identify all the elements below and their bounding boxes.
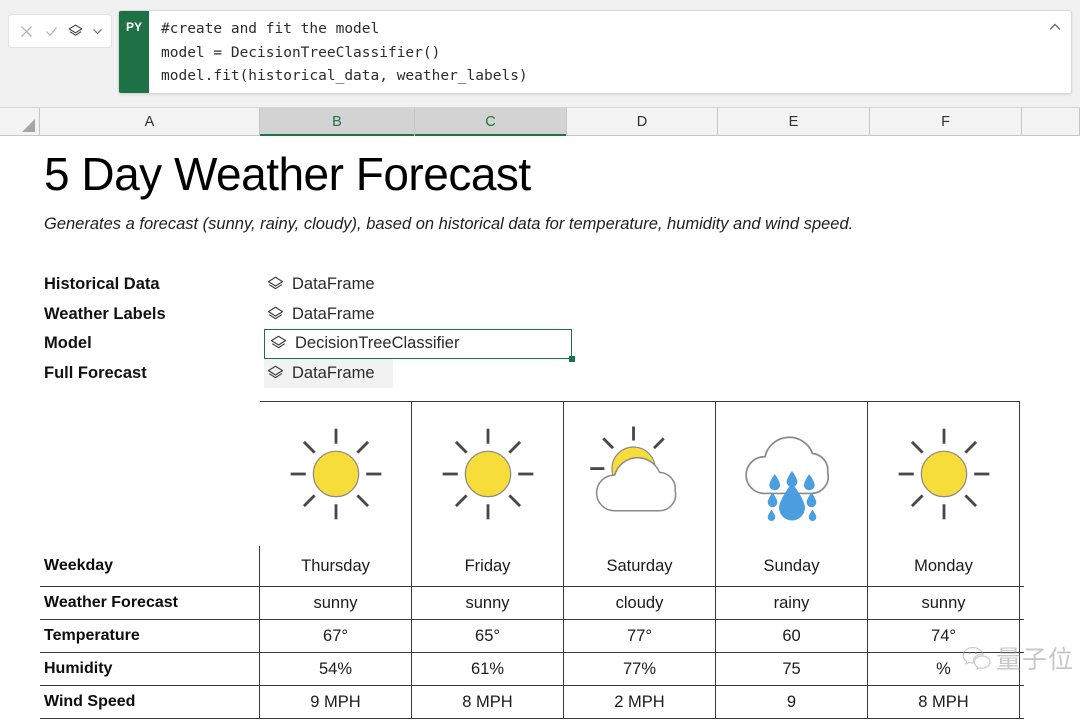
layers-icon[interactable]	[66, 21, 86, 41]
parameter-value: DataFrame	[292, 305, 375, 324]
parameter-label: Historical Data	[44, 275, 264, 294]
forecast-table: Weekday Thursday Friday Saturday Sunday …	[40, 401, 1024, 719]
page-subtitle: Generates a forecast (sunny, rainy, clou…	[44, 215, 853, 234]
formula-bar-controls	[8, 14, 112, 48]
column-label: C	[485, 114, 495, 130]
chevron-down-icon[interactable]	[91, 21, 104, 41]
column-label: F	[941, 114, 950, 130]
table-cell: cloudy	[564, 587, 716, 619]
table-cell: 67°	[260, 620, 412, 652]
parameter-value: DecisionTreeClassifier	[295, 334, 459, 353]
python-badge: PY	[119, 11, 149, 93]
sunny-icon	[890, 420, 998, 528]
table-cell: 8 MPH	[412, 686, 564, 718]
table-cell: sunny	[260, 587, 412, 619]
table-cell: 54%	[260, 653, 412, 685]
table-cell: 8 MPH	[868, 686, 1020, 718]
table-row-temperature: Temperature 67° 65° 77° 60 74°	[40, 620, 1024, 653]
layers-icon	[269, 334, 288, 353]
layers-icon	[266, 305, 285, 324]
weather-icon-cell-thursday	[260, 401, 412, 546]
table-cell: sunny	[868, 587, 1020, 619]
sheet-canvas: 5 Day Weather Forecast Generates a forec…	[0, 136, 1080, 720]
select-all-triangle-icon	[22, 119, 35, 132]
parameter-row-historical-data: Historical Data DataFrame	[44, 270, 574, 300]
table-cell: 75	[716, 653, 868, 685]
page-title: 5 Day Weather Forecast	[44, 147, 531, 201]
selected-cell-model[interactable]: DecisionTreeClassifier	[264, 329, 572, 359]
excel-python-sheet: PY #create and fit the model model = Dec…	[0, 0, 1080, 720]
parameter-value: DataFrame	[292, 364, 375, 383]
parameter-value: DataFrame	[292, 275, 375, 294]
row-label: Temperature	[40, 620, 260, 652]
weather-icon-row	[40, 401, 1024, 546]
formula-input[interactable]: PY #create and fit the model model = Dec…	[118, 10, 1072, 94]
column-header-f[interactable]: F	[870, 108, 1022, 135]
chevron-up-icon[interactable]	[1046, 18, 1064, 36]
table-cell: 9 MPH	[260, 686, 412, 718]
column-header-a[interactable]: A	[40, 108, 260, 135]
formula-bar-zone: PY #create and fit the model model = Dec…	[0, 0, 1080, 108]
row-label: Weather Forecast	[40, 587, 260, 619]
weather-icon-cell-saturday	[564, 401, 716, 546]
table-cell: Thursday	[260, 546, 412, 586]
table-cell: 77°	[564, 620, 716, 652]
table-cell: Friday	[412, 546, 564, 586]
sunny-icon	[434, 420, 542, 528]
table-cell: Saturday	[564, 546, 716, 586]
column-header-g[interactable]	[1022, 108, 1080, 135]
table-row-wind-speed: Wind Speed 9 MPH 8 MPH 2 MPH 9 8 MPH	[40, 686, 1024, 719]
column-label: E	[789, 114, 799, 130]
row-label: Humidity	[40, 653, 260, 685]
column-header-row: A B C D E F	[0, 108, 1080, 136]
table-cell: %	[868, 653, 1020, 685]
row-label: Weekday	[40, 546, 260, 586]
close-icon[interactable]	[16, 21, 36, 41]
check-icon[interactable]	[41, 21, 61, 41]
parameter-row-weather-labels: Weather Labels DataFrame	[44, 300, 574, 330]
cloudy-icon	[586, 420, 694, 528]
table-cell: 65°	[412, 620, 564, 652]
parameter-value-cell[interactable]: DataFrame	[264, 270, 375, 300]
parameter-label: Weather Labels	[44, 305, 264, 324]
table-cell: 60	[716, 620, 868, 652]
parameter-value-cell[interactable]: DataFrame	[264, 300, 375, 330]
select-all-corner[interactable]	[0, 108, 40, 135]
table-row-humidity: Humidity 54% 61% 77% 75 %	[40, 653, 1024, 686]
column-header-e[interactable]: E	[718, 108, 870, 135]
weather-icon-cell-sunday	[716, 401, 868, 546]
weather-icon-cell-friday	[412, 401, 564, 546]
table-cell: sunny	[412, 587, 564, 619]
table-cell: 61%	[412, 653, 564, 685]
parameter-value-cell[interactable]: DataFrame	[264, 359, 393, 389]
table-cell: 74°	[868, 620, 1020, 652]
table-cell: 9	[716, 686, 868, 718]
table-cell: Sunday	[716, 546, 868, 586]
table-cell: 77%	[564, 653, 716, 685]
table-cell: Monday	[868, 546, 1020, 586]
column-header-d[interactable]: D	[567, 108, 718, 135]
parameter-label: Full Forecast	[44, 364, 264, 383]
rainy-icon	[738, 420, 846, 528]
icon-row-blank-label	[40, 401, 260, 546]
table-row-weekday: Weekday Thursday Friday Saturday Sunday …	[40, 546, 1024, 587]
column-header-b[interactable]: B	[260, 108, 415, 135]
layers-icon	[266, 275, 285, 294]
table-cell: 2 MPH	[564, 686, 716, 718]
table-cell: rainy	[716, 587, 868, 619]
formula-code-text[interactable]: #create and fit the model model = Decisi…	[161, 18, 1041, 89]
parameter-label: Model	[44, 334, 264, 353]
weather-icon-cell-monday	[868, 401, 1020, 546]
table-row-weather-forecast: Weather Forecast sunny sunny cloudy rain…	[40, 587, 1024, 620]
parameter-row-model: Model DecisionTreeClassifier	[44, 329, 574, 359]
row-label: Wind Speed	[40, 686, 260, 718]
parameter-row-full-forecast: Full Forecast DataFrame	[44, 359, 574, 389]
column-header-c[interactable]: C	[415, 108, 567, 135]
column-label: D	[637, 114, 647, 130]
column-label: A	[145, 114, 155, 130]
layers-icon	[266, 364, 285, 383]
parameter-list: Historical Data DataFrame Weather Labels	[44, 270, 574, 388]
sunny-icon	[282, 420, 390, 528]
column-label: B	[332, 114, 342, 130]
